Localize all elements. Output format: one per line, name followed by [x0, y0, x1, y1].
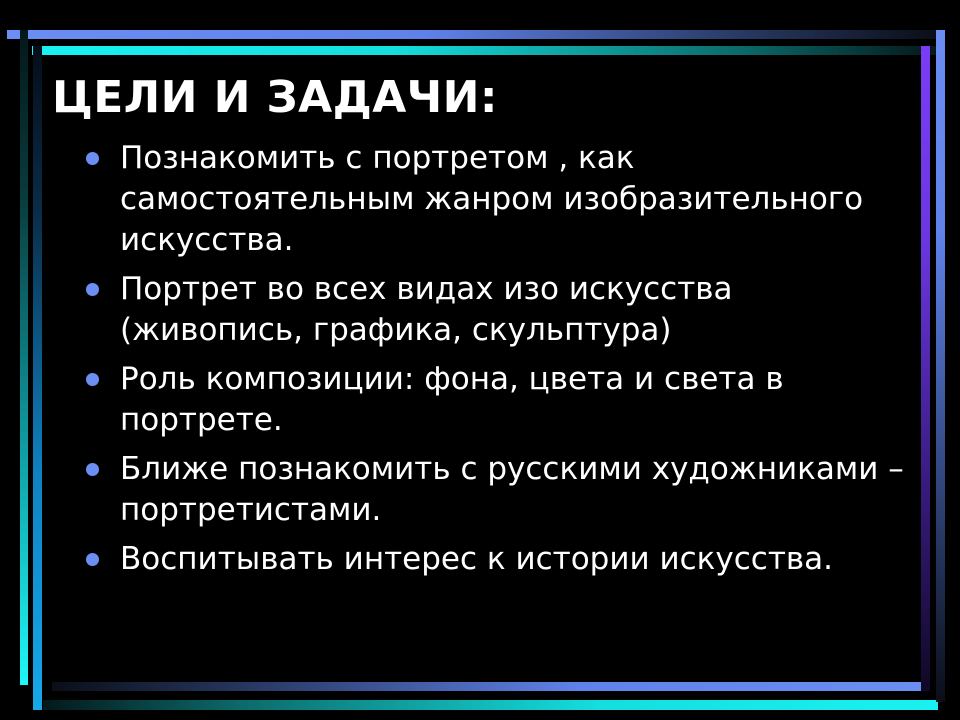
list-item-text: Познакомить с портретом , как самостояте…: [120, 138, 908, 261]
bullet-dot-icon: [86, 553, 99, 566]
list-item: Роль композиции: фона, цвета и света в п…: [78, 359, 908, 441]
list-item-text: Ближе познакомить с русскими художниками…: [120, 449, 908, 531]
presentation-slide: ЦЕЛИ И ЗАДАЧИ: Познакомить с портретом ,…: [0, 0, 960, 720]
frame-rule-top-blue: [7, 30, 937, 39]
list-item-text: Портрет во всех видах изо искусства (жив…: [120, 269, 908, 351]
bullet-dot-icon: [86, 152, 99, 165]
list-item: Воспитывать интерес к истории искусства.: [78, 539, 908, 580]
bullet-dot-icon: [86, 283, 99, 296]
frame-rule-bottom-blue: [52, 682, 930, 691]
bullet-dot-icon: [86, 463, 99, 476]
frame-rule-right-blue: [936, 30, 945, 702]
frame-rule-left-blue: [33, 46, 42, 710]
frame-rule-left-cyan: [20, 30, 28, 685]
list-item: Ближе познакомить с русскими художниками…: [78, 449, 908, 531]
list-item: Портрет во всех видах изо искусства (жив…: [78, 269, 908, 351]
page-title: ЦЕЛИ И ЗАДАЧИ:: [52, 73, 498, 122]
bullet-dot-icon: [86, 373, 99, 386]
list-item: Познакомить с портретом , как самостояте…: [78, 138, 908, 261]
bullet-list: Познакомить с портретом , как самостояте…: [78, 138, 908, 588]
frame-rule-top-cyan: [32, 46, 937, 55]
frame-rule-right-violet: [921, 46, 930, 691]
frame-rule-bottom-cyan: [43, 700, 938, 710]
list-item-text: Роль композиции: фона, цвета и света в п…: [120, 359, 908, 441]
list-item-text: Воспитывать интерес к истории искусства.: [120, 539, 908, 580]
